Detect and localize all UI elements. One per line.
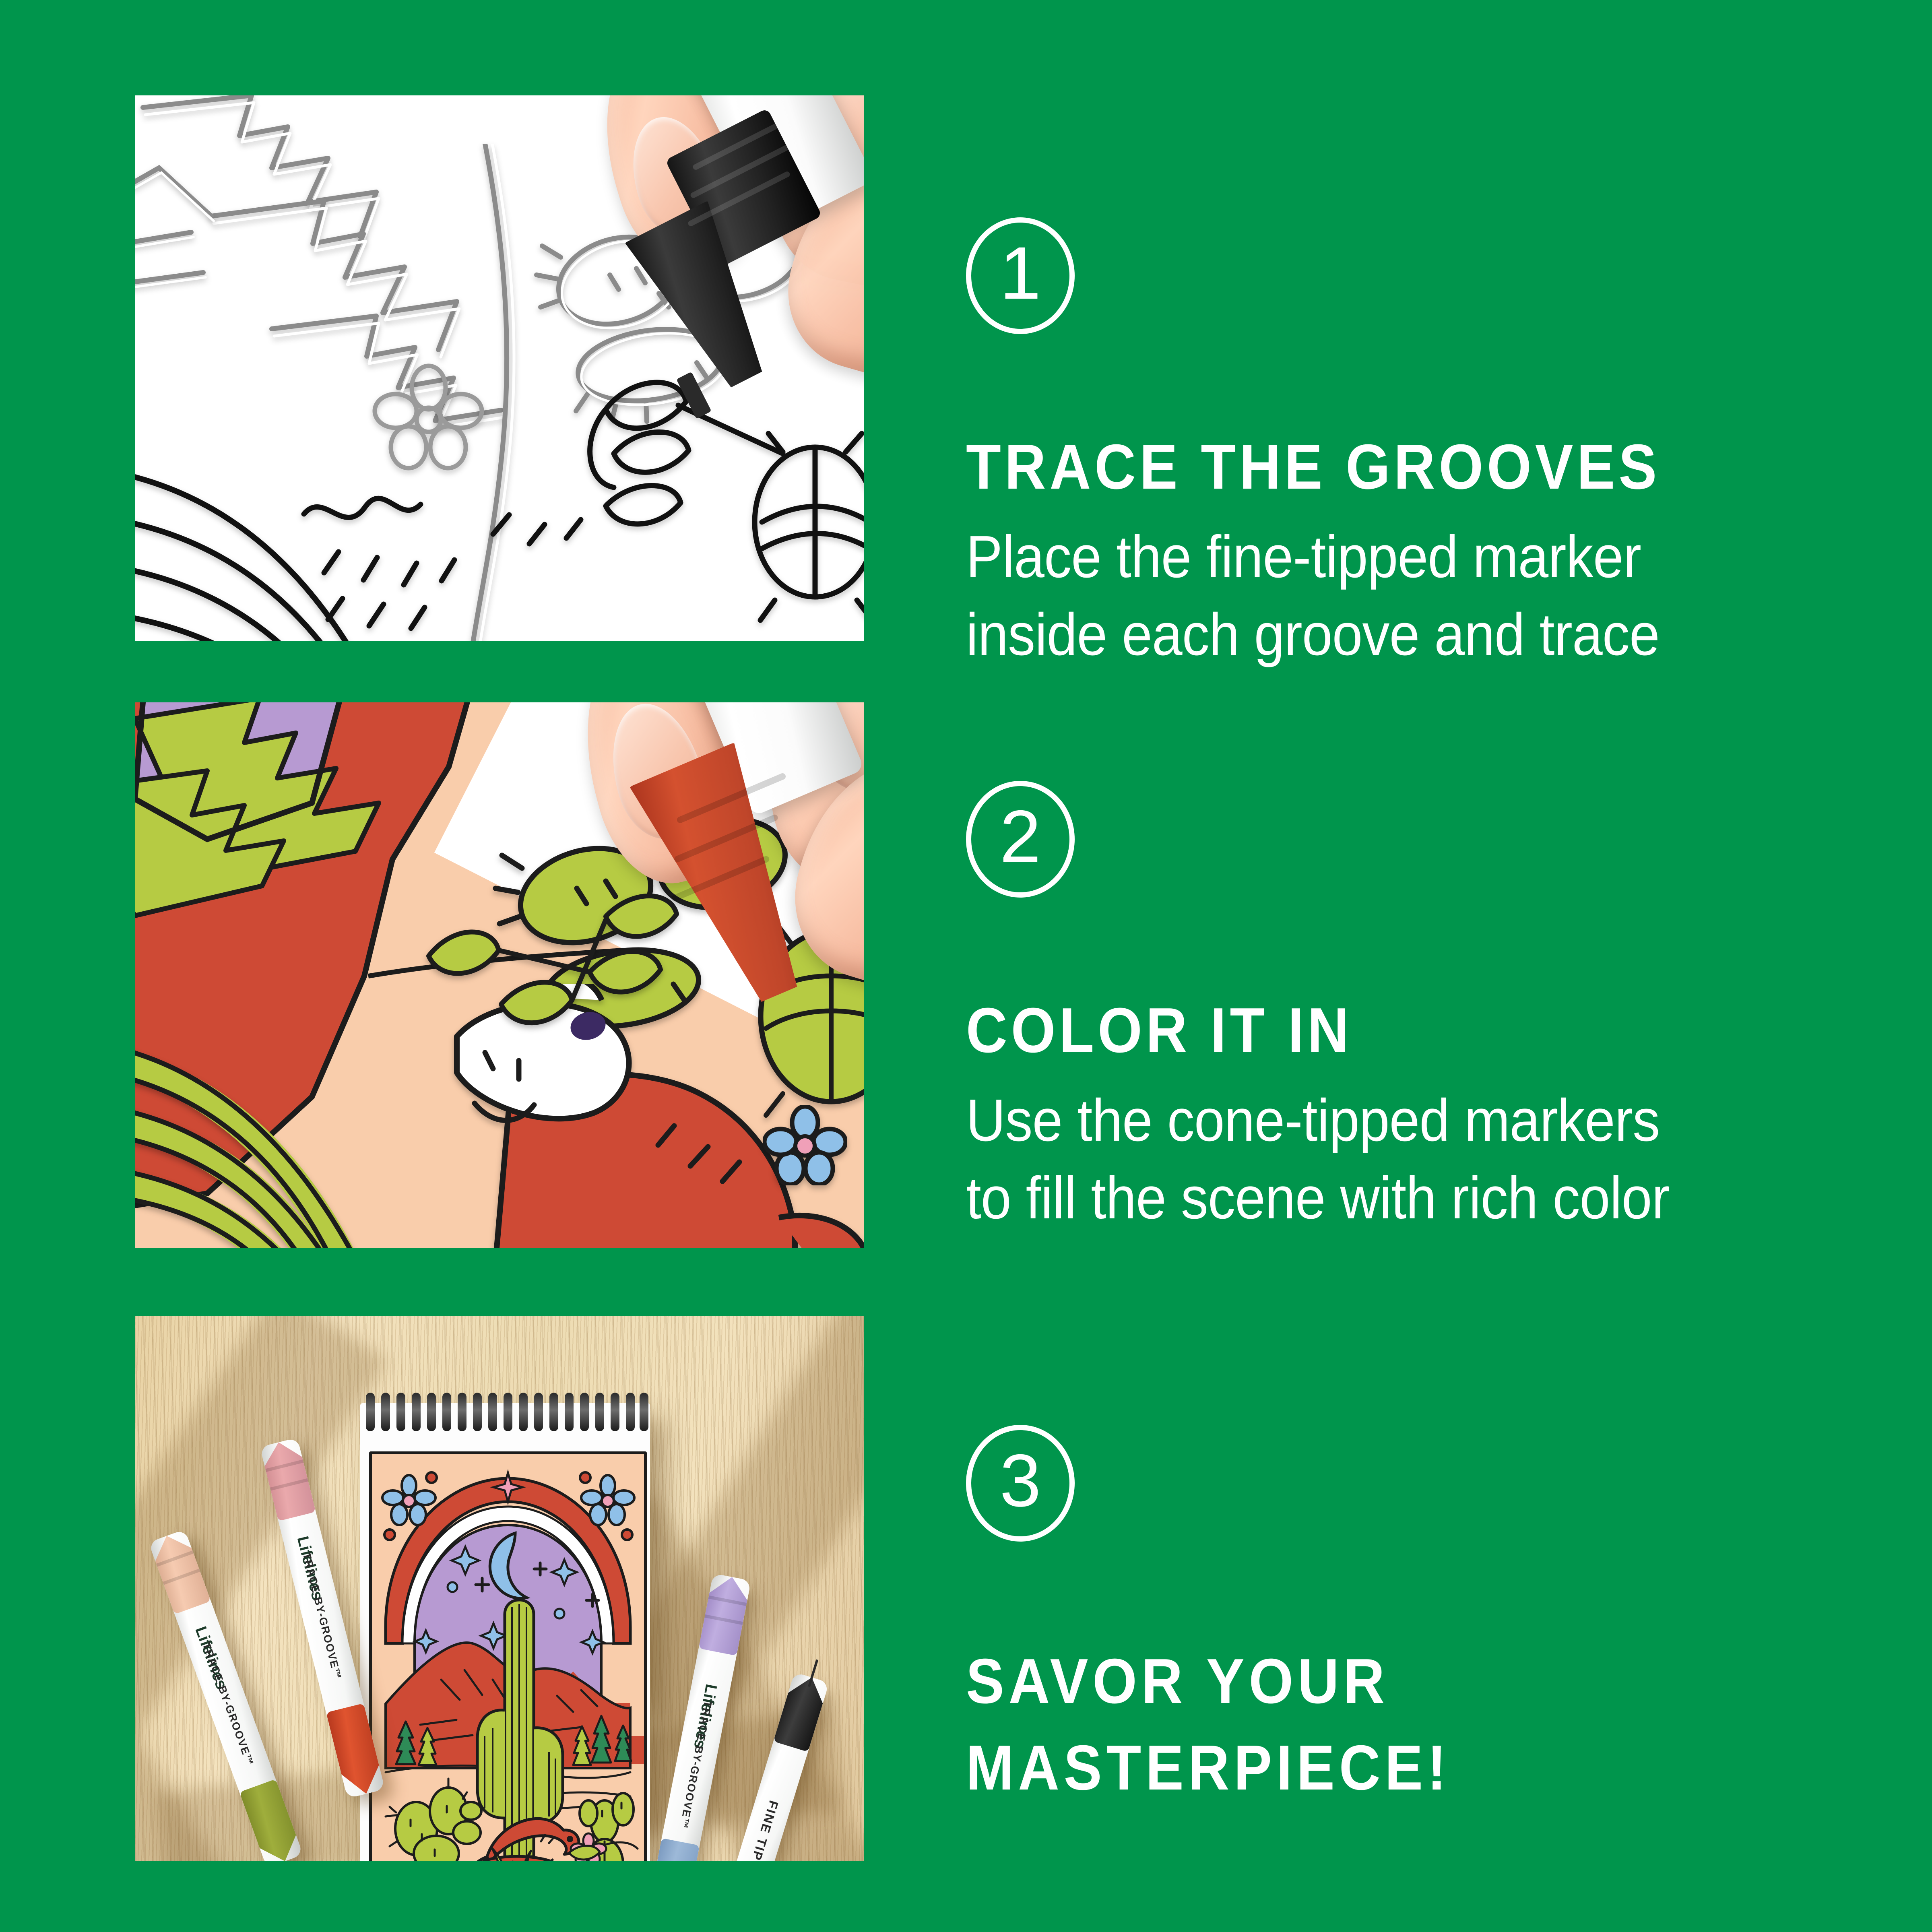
step-1-heading: TRACE THE GROOVES [966,431,1745,503]
step-3-heading: SAVOR YOUR MASTERPIECE! [966,1638,1745,1811]
step-1-text-block: 1 TRACE THE GROOVES Place the fine-tippe… [966,217,1831,673]
step-2-heading: COLOR IT IN [966,994,1745,1067]
step-3-number: 3 [1000,1444,1041,1518]
step-2-number-badge: 2 [966,781,1075,898]
groove-flower [368,361,489,474]
marker-fine-nib [676,372,711,419]
step-3-number-badge: 3 [966,1425,1075,1542]
groove-sheet-edge [135,140,280,349]
step-2-number: 2 [1000,800,1041,874]
spiral-binding [360,1403,650,1449]
step-2-body: Use the cone-tipped markers to fill the … [966,1082,1762,1237]
hand-holding-cone-tip-marker [537,702,864,1173]
step-3-photo: Lifelines TRACE-BY-GROOVE™ Lifelines TRA… [135,1316,864,1861]
step-3-text-block: 3 SAVOR YOUR MASTERPIECE! [966,1425,1831,1827]
step-2-photo [135,702,864,1248]
step-1-number-badge: 1 [966,217,1075,334]
step-1-number: 1 [1000,236,1041,311]
poster-canvas: Lifelines TRACE-BY-GROOVE™ Lifelines TRA… [0,0,1932,1932]
step-1-photo [135,95,864,641]
step-2-text-block: 2 COLOR IT IN Use the cone-tipped marker… [966,781,1831,1237]
hand-holding-fine-tip-marker [570,95,864,566]
finished-artwork [369,1451,647,1861]
spiral-notepad [360,1403,650,1861]
step-1-body: Place the fine-tipped marker inside each… [966,518,1762,673]
